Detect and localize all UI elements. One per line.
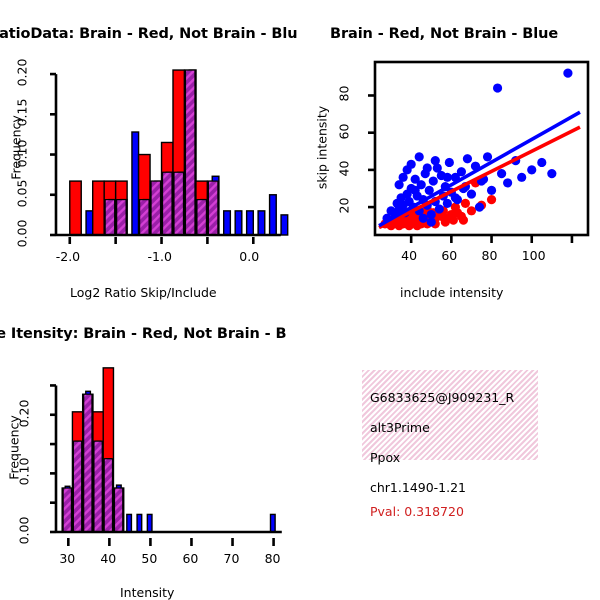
scatter-point [497,169,506,178]
scatter-point [461,199,470,208]
scatter-x-tick-label: 60 [441,248,457,263]
scatter-point [459,216,468,225]
scatter-point [487,186,496,195]
info-line-probeset: G6833625@J909231_R [370,390,514,405]
scatter-points-group [380,69,572,231]
intensity-y-tick-label: 0.10 [17,452,32,492]
ratio-bar-overlap [151,181,160,235]
scatter-x-tick-label: 80 [482,248,498,263]
scatter-point [547,169,556,178]
intensity-bar-overlap [84,394,92,532]
ratio-bar-overlap [208,181,217,235]
scatter-point [449,216,458,225]
intensity-bars-group [62,368,275,532]
ratio-bar-overlap [105,200,114,235]
intensity-bar-blue [147,514,152,532]
ratio-x-tick-label: -1.0 [148,249,172,264]
ratio-y-tick-label: 0.10 [15,133,30,173]
scatter-point [441,217,450,226]
intensity-x-tick-label: 60 [182,551,198,566]
ratio-bars-group [70,70,288,235]
scatter-x-tick-label: 100 [522,248,546,263]
scatter-point [395,221,404,230]
ratio-bar-blue [247,211,254,235]
ratio-bar-blue [270,195,277,235]
scatter-point [423,163,432,172]
scatter-point [475,202,484,211]
ratio-y-tick-label: 0.05 [15,173,30,213]
ratio-x-tick-label: -2.0 [56,249,80,264]
scatter-point [419,214,428,223]
scatter-y-tick-label: 40 [337,148,352,188]
scatter-point [463,154,472,163]
scatter-point [457,167,466,176]
scatter-point [445,158,454,167]
ratio-y-tick-label: 0.15 [15,93,30,133]
ratio-bar-red [93,181,104,235]
scatter-point [427,217,436,226]
intensity-x-tick-label: 80 [265,551,281,566]
intensity-x-tick-label: 70 [224,551,240,566]
scatter-point [429,176,438,185]
scatter-point [435,204,444,213]
ratio-bar-blue [281,215,288,235]
ratio-bar-blue [86,211,93,235]
intensity-bar-blue [271,514,276,532]
scatter-point [443,199,452,208]
intensity-bar-overlap [114,488,122,532]
scatter-point [483,152,492,161]
info-box-text: G6833625@J909231_R alt3Prime Ppox chr1.1… [300,300,600,600]
scatter-point [443,173,452,182]
intensity-x-tick-label: 40 [100,551,116,566]
ratio-x-tick-label: 0.0 [239,249,259,264]
info-line-event-type: alt3Prime [370,420,430,435]
ratio-bar-overlap [185,70,194,235]
ratio-bar-blue [235,211,242,235]
info-line-pval: Pval: 0.318720 [370,504,464,519]
info-line-locus: chr1.1490-1.21 [370,480,466,495]
intensity-bar-overlap [104,459,112,532]
ratio-y-tick-label: 0.20 [15,53,30,93]
intensity-bar-overlap [94,441,102,532]
scatter-point [467,206,476,215]
ratio-bar-red [70,181,81,235]
panel-scatter: Brain - Red, Not Brain - Blue skip inten… [300,0,600,300]
scatter-point [467,189,476,198]
ratio-bar-blue [132,132,139,235]
scatter-point [395,180,404,189]
ratio-bar-overlap [140,200,149,235]
ratio-bar-overlap [163,172,172,235]
intensity-x-tick-label: 50 [141,551,157,566]
intensity-bar-blue [137,514,142,532]
scatter-point [403,165,412,174]
scatter-point [503,178,512,187]
scatter-point [493,83,502,92]
intensity-y-tick-label: 0.20 [17,393,32,433]
intensity-bar-overlap [73,441,81,532]
info-line-gene: Ppox [370,450,400,465]
scatter-point [527,165,536,174]
intensity-bar-blue [127,514,132,532]
ratio-bar-overlap [174,172,183,235]
scatter-point [517,173,526,182]
panel-info: G6833625@J909231_R alt3Prime Ppox chr1.1… [300,300,600,600]
scatter-point [451,193,460,202]
panel-ratio-histogram: RatioData: Brain - Red, Not Brain - Blu … [0,0,300,300]
scatter-point [563,69,572,78]
ratio-bar-blue [258,211,265,235]
intensity-x-tick-label: 30 [59,551,75,566]
scatter-point [487,195,496,204]
scatter-y-tick-label: 80 [337,74,352,114]
scatter-x-tick-label: 40 [401,248,417,263]
intensity-bar-overlap [63,488,71,532]
scatter-y-tick-label: 20 [337,186,352,226]
intensity-y-tick-label: 0.00 [17,511,32,551]
ratio-bar-blue [224,211,231,235]
scatter-point [431,156,440,165]
panel-intensity-histogram: ne Itensity: Brain - Red, Not Brain - B … [0,300,300,600]
scatter-point [411,186,420,195]
scatter-y-tick-label: 60 [337,111,352,151]
ratio-y-tick-label: 0.00 [15,214,30,254]
scatter-point [537,158,546,167]
scatter-point [413,221,422,230]
scatter-point [415,152,424,161]
ratio-bar-overlap [197,200,206,235]
ratio-bar-overlap [117,200,126,235]
